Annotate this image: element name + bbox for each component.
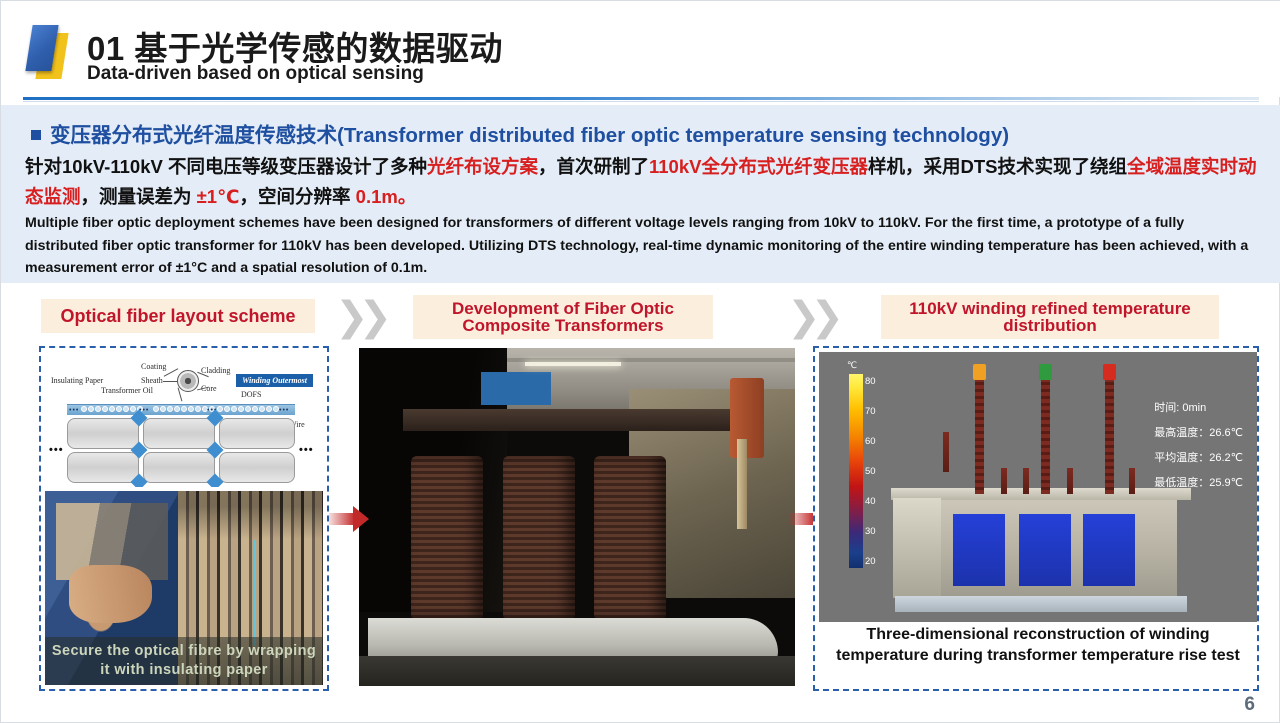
dofs-fiber-circle bbox=[174, 406, 180, 412]
arrow-shaft bbox=[329, 513, 355, 525]
model-lv-bushing bbox=[1067, 468, 1073, 494]
fiber-layout-diagram: Insulating Paper Transformer Oil Coating… bbox=[45, 352, 323, 487]
model-winding bbox=[1083, 514, 1135, 586]
section-heading: 变压器分布式光纤温度传感技术(Transformer distributed f… bbox=[31, 118, 1009, 148]
photo-ceiling-lamp bbox=[525, 362, 621, 366]
model-hv-bushing bbox=[975, 378, 984, 494]
dofs-fiber-circle bbox=[109, 406, 115, 412]
paragraph-highlight-run: 光纤布设方案 bbox=[427, 156, 538, 177]
dofs-fiber-circle bbox=[123, 406, 129, 412]
ellipsis-right: ••• bbox=[299, 444, 314, 456]
model-side-cabinet bbox=[893, 498, 941, 598]
dofs-fiber-circle bbox=[167, 406, 173, 412]
photo-transformer-assembly bbox=[359, 348, 795, 686]
model-bushing-cap-phase-a bbox=[973, 364, 986, 380]
colorbar-tick-40: 40 bbox=[865, 496, 876, 507]
paragraph-highlight-run: 0.1m。 bbox=[356, 186, 417, 207]
photo-floor bbox=[359, 656, 795, 686]
colorbar-tick-70: 70 bbox=[865, 406, 876, 417]
right-panel-caption: Three-dimensional reconstruction of wind… bbox=[819, 624, 1257, 666]
model-base bbox=[895, 596, 1187, 612]
model-winding bbox=[953, 514, 1005, 586]
transformer-bushing-stem bbox=[737, 439, 747, 529]
pill-fiber-optic-composite-transformers: Development of Fiber Optic Composite Tra… bbox=[413, 295, 713, 339]
paragraph-run: 针对10kV-110kV 不同电压等级变压器设计了多种 bbox=[25, 156, 427, 177]
header-divider-secondary bbox=[23, 101, 1259, 102]
model-lv-bushing bbox=[1129, 468, 1135, 494]
dofs-fiber-circle bbox=[231, 406, 237, 412]
arrow-shaft bbox=[789, 513, 815, 525]
section-heading-text: 变压器分布式光纤温度传感技术(Transformer distributed f… bbox=[50, 124, 1009, 147]
winding-coil-cell bbox=[219, 418, 295, 449]
colorbar-tick-60: 60 bbox=[865, 436, 876, 447]
intro-text-block: 变压器分布式光纤温度传感技术(Transformer distributed f… bbox=[1, 105, 1280, 283]
dofs-fiber-circle bbox=[95, 406, 101, 412]
paragraph-run: 样机，采用DTS技术实现了绕组 bbox=[868, 156, 1127, 177]
label-insulating-paper: Insulating Paper bbox=[51, 376, 103, 385]
company-logo-icon bbox=[25, 23, 77, 81]
transformer-3d-model bbox=[891, 362, 1191, 612]
dofs-fiber-circle bbox=[181, 406, 187, 412]
winding-coil-cell bbox=[219, 452, 295, 483]
dofs-fiber-circle bbox=[130, 406, 136, 412]
left-panel: Insulating Paper Transformer Oil Coating… bbox=[39, 346, 329, 691]
leader-line-sheath bbox=[163, 381, 177, 382]
slide-header: 01 基于光学传感的数据驱动 Data-driven based on opti… bbox=[1, 1, 1280, 97]
dofs-fiber-circle bbox=[259, 406, 265, 412]
winding-coil-cell bbox=[143, 452, 215, 483]
header-divider bbox=[23, 97, 1259, 100]
dofs-fiber-circle bbox=[160, 406, 166, 412]
oil-channel-dots: ••• bbox=[69, 407, 79, 414]
winding-coil-cell bbox=[67, 418, 139, 449]
label-transformer-oil: Transformer Oil bbox=[101, 386, 153, 395]
dofs-circle-row: •••••••••••• bbox=[67, 405, 295, 414]
thermal-3d-visualization: ℃ 80706050403020 时间: 0min 最高温度：26.6℃ 平均温… bbox=[819, 352, 1257, 622]
dofs-fiber-circle bbox=[81, 406, 87, 412]
colorbar-tick-20: 20 bbox=[865, 556, 876, 567]
oil-channel-dots: ••• bbox=[279, 407, 289, 414]
badge-winding-outermost: Winding Outermost bbox=[236, 374, 313, 387]
model-bushing-cap-phase-b bbox=[1039, 364, 1052, 380]
dofs-fiber-circle bbox=[153, 406, 159, 412]
chevron-right-icon-1: ❯❯ bbox=[335, 297, 379, 337]
label-dofs: DOFS bbox=[241, 390, 261, 399]
label-cladding: Cladding bbox=[201, 366, 230, 375]
page-title-en: Data-driven based on optical sensing bbox=[87, 63, 424, 85]
paragraph-run: ，首次研制了 bbox=[538, 156, 649, 177]
model-lv-bushing bbox=[943, 432, 949, 472]
model-hv-bushing bbox=[1041, 378, 1050, 494]
temperature-colorbar bbox=[849, 374, 863, 568]
transformer-winding-coil bbox=[594, 456, 666, 618]
paragraph-english: Multiple fiber optic deployment schemes … bbox=[25, 212, 1261, 280]
colorbar-tick-50: 50 bbox=[865, 466, 876, 477]
dofs-fiber-circle bbox=[266, 406, 272, 412]
photo-blue-equipment bbox=[481, 372, 551, 406]
page-number: 6 bbox=[1244, 694, 1255, 716]
pill-110kv-winding-temperature: 110kV winding refined temperature distri… bbox=[881, 295, 1219, 339]
photo-steel-beam bbox=[403, 409, 761, 431]
pill-optical-fiber-layout: Optical fiber layout scheme bbox=[41, 299, 315, 333]
dofs-fiber-circle bbox=[188, 406, 194, 412]
arrow-head bbox=[353, 506, 369, 532]
model-hv-bushing bbox=[1105, 378, 1114, 494]
paragraph-highlight-run: 110kV全分布式光纤变压器 bbox=[649, 156, 868, 177]
ellipsis-left: ••• bbox=[49, 444, 64, 456]
colorbar-unit-label: ℃ bbox=[847, 360, 857, 371]
dofs-fiber-circle bbox=[238, 406, 244, 412]
winding-coil-cell bbox=[67, 452, 139, 483]
transformer-winding-coil bbox=[503, 456, 575, 618]
arrow-right-icon-1 bbox=[329, 506, 369, 532]
dofs-fiber-circle bbox=[195, 406, 201, 412]
model-winding bbox=[1019, 514, 1071, 586]
dofs-fiber-circle bbox=[102, 406, 108, 412]
dofs-fiber-circle bbox=[252, 406, 258, 412]
dofs-fiber-circle bbox=[245, 406, 251, 412]
dofs-fiber-circle bbox=[88, 406, 94, 412]
dofs-fiber-circle bbox=[224, 406, 230, 412]
paragraph-run: ，测量误差为 bbox=[81, 186, 197, 207]
fiber-cross-section-icon bbox=[177, 370, 199, 392]
chevron-right-icon-2: ❯❯ bbox=[787, 297, 831, 337]
label-coating: Coating bbox=[141, 362, 166, 371]
model-lv-bushing bbox=[1023, 468, 1029, 494]
dofs-fiber-circle bbox=[116, 406, 122, 412]
colorbar-tick-80: 80 bbox=[865, 376, 876, 387]
winding-coil-cell bbox=[143, 418, 215, 449]
paragraph-highlight-run: ±1℃ bbox=[197, 186, 240, 207]
transformer-bushing bbox=[730, 378, 764, 458]
model-bushing-cap-phase-c bbox=[1103, 364, 1116, 380]
transformer-winding-coil bbox=[411, 456, 483, 618]
colorbar-tick-30: 30 bbox=[865, 526, 876, 537]
paragraph-run: ，空间分辨率 bbox=[240, 186, 356, 207]
paragraph-chinese: 针对10kV-110kV 不同电压等级变压器设计了多种光纤布设方案，首次研制了1… bbox=[25, 152, 1261, 212]
photo-caption-overlay: Secure the optical fibre by wrapping it … bbox=[45, 637, 323, 685]
right-panel: ℃ 80706050403020 时间: 0min 最高温度：26.6℃ 平均温… bbox=[813, 346, 1259, 691]
slide: 01 基于光学传感的数据驱动 Data-driven based on opti… bbox=[0, 0, 1280, 723]
square-bullet-icon bbox=[31, 130, 41, 140]
dofs-fiber-circle bbox=[217, 406, 223, 412]
label-sheath: Sheath bbox=[141, 376, 163, 385]
model-lv-bushing bbox=[1001, 468, 1007, 494]
